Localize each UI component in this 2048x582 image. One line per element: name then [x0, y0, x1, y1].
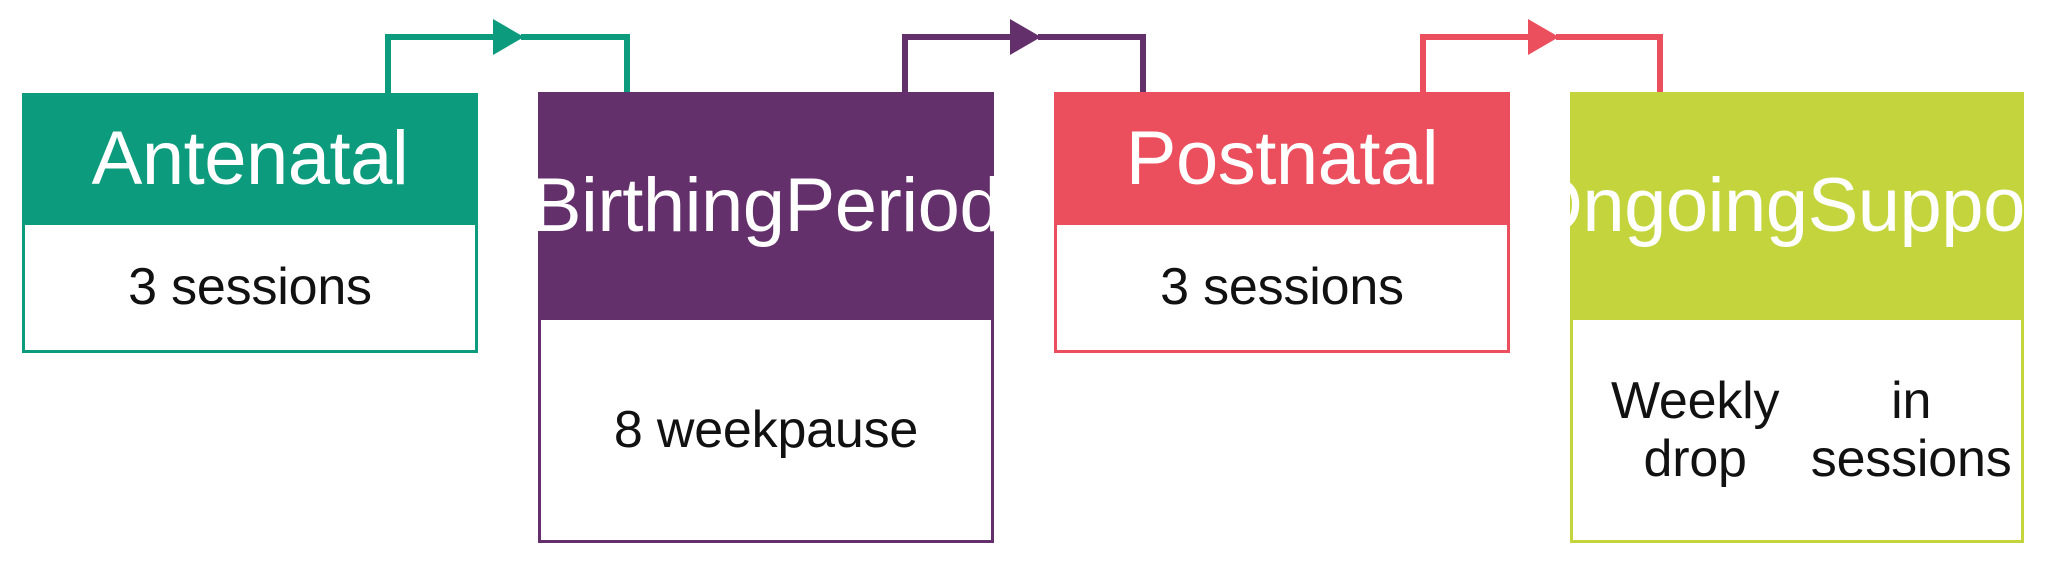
- connector-line-right-postnatal: [1556, 37, 1660, 95]
- flow-diagram: Antenatal 3 sessions BirthingPeriod 8 we…: [0, 0, 2048, 582]
- stage-header-birthing: BirthingPeriod: [538, 92, 994, 320]
- stage-header-ongoing: OngoingSupport: [1570, 92, 2024, 320]
- stage-header-antenatal: Antenatal: [22, 93, 478, 225]
- connector-line-left-antenatal: [388, 37, 495, 95]
- stage-body-antenatal: 3 sessions: [22, 225, 478, 353]
- stage-body-postnatal: 3 sessions: [1054, 225, 1510, 353]
- stage-body-ongoing: Weekly dropin sessions: [1570, 320, 2024, 543]
- connector-line-left-postnatal: [1423, 37, 1530, 95]
- stage-header-postnatal: Postnatal: [1054, 92, 1510, 225]
- arrowhead-icon-postnatal: [1528, 19, 1559, 55]
- stage-card-postnatal[interactable]: Postnatal 3 sessions: [1054, 92, 1510, 353]
- stage-header-line2-ongoing: Support: [1808, 167, 2048, 245]
- stage-body-birthing: 8 weekpause: [538, 320, 994, 543]
- connector-line-left-birthing: [905, 37, 1012, 95]
- stage-header-line1-birthing: Birthing: [531, 167, 785, 245]
- stage-body-line2-ongoing: in sessions: [1809, 372, 2013, 488]
- stage-card-antenatal[interactable]: Antenatal 3 sessions: [22, 93, 478, 353]
- stage-card-ongoing[interactable]: OngoingSupport Weekly dropin sessions: [1570, 92, 2024, 543]
- stage-card-birthing[interactable]: BirthingPeriod 8 weekpause: [538, 92, 994, 543]
- stage-header-line1-ongoing: Ongoing: [1524, 167, 1808, 245]
- stage-header-line2-birthing: Period: [785, 167, 1002, 245]
- arrowhead-icon-antenatal: [493, 19, 524, 55]
- connector-line-right-antenatal: [521, 37, 627, 95]
- connector-line-right-birthing: [1038, 37, 1143, 95]
- arrowhead-icon-birthing: [1010, 19, 1041, 55]
- stage-body-line2-birthing: pause: [777, 401, 918, 459]
- stage-body-line1-ongoing: Weekly drop: [1581, 372, 1809, 488]
- stage-body-line1-birthing: 8 week: [614, 401, 778, 459]
